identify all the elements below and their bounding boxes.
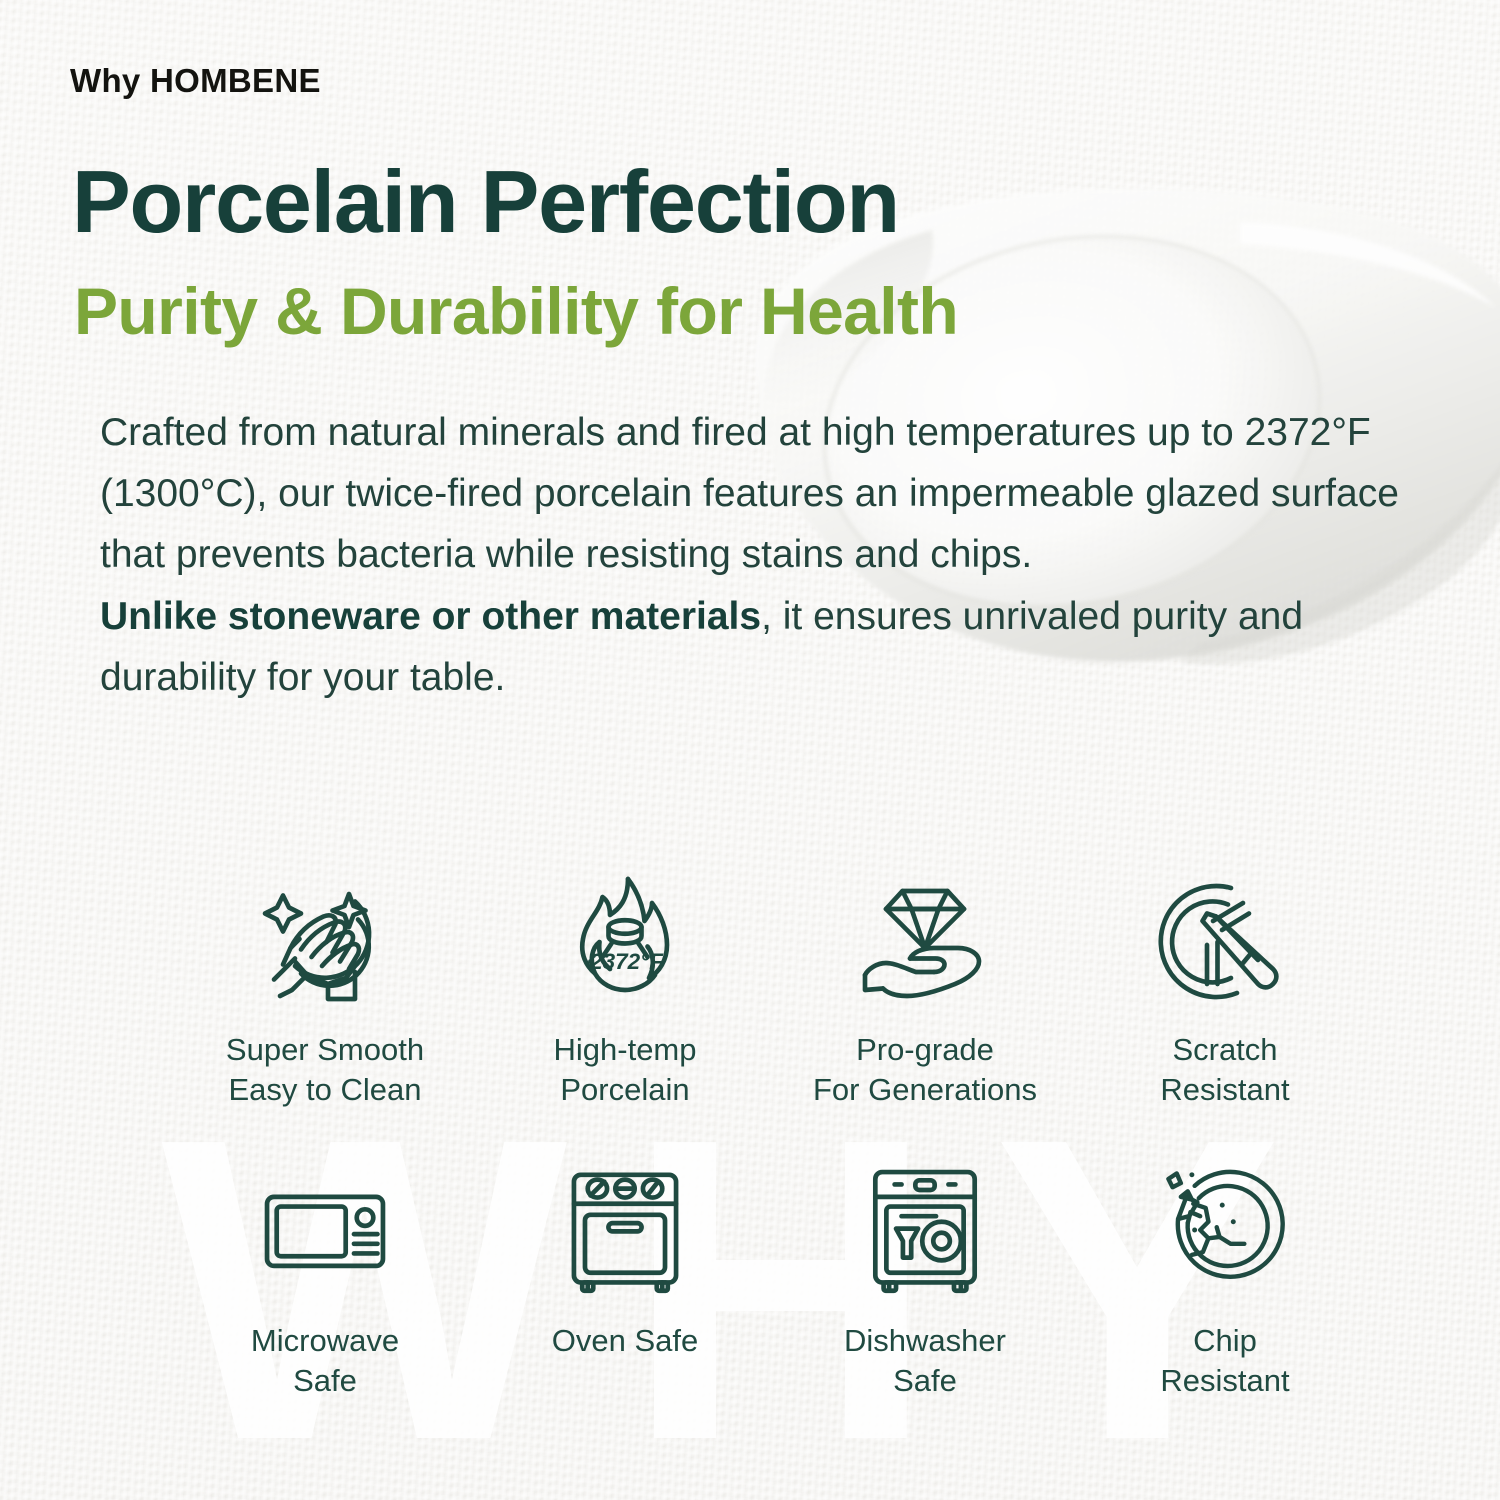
page-subtitle: Purity & Durability for Health [74, 278, 958, 344]
page-eyebrow: Why HOMBENE [70, 62, 321, 100]
dishwasher-icon [856, 1155, 994, 1305]
feature-label: Pro-grade For Generations [813, 1030, 1037, 1109]
feature-label: Chip Resistant [1160, 1321, 1289, 1400]
body-paragraph-1: Crafted from natural minerals and fired … [100, 403, 1430, 585]
feature-label: Super Smooth Easy to Clean [226, 1030, 424, 1109]
feature-item-super-smooth: Super Smooth Easy to Clean [175, 862, 475, 1109]
feature-label: Scratch Resistant [1160, 1030, 1289, 1109]
feature-label: High-temp Porcelain [554, 1030, 697, 1109]
feature-item-pro-grade: Pro-grade For Generations [775, 862, 1075, 1109]
feature-item-high-temp: 2372°F High-temp Porcelain [475, 862, 775, 1109]
chipped-plate-icon [1156, 1155, 1294, 1305]
body-copy: Crafted from natural minerals and fired … [100, 403, 1430, 709]
diamond-in-hand-icon [850, 862, 1000, 1022]
flame-temperature-badge: 2372°F [589, 949, 664, 974]
flame-temperature-icon: 2372°F [550, 862, 700, 1022]
feature-item-oven-safe: Oven Safe [475, 1155, 775, 1400]
sparkle-hand-polish-icon [250, 862, 400, 1022]
plate-knife-scratch-icon [1150, 862, 1300, 1022]
feature-item-scratch-resistant: Scratch Resistant [1075, 862, 1375, 1109]
feature-label: Dishwasher Safe [844, 1321, 1006, 1400]
body-paragraph-2: Unlike stoneware or other materials, it … [100, 587, 1430, 709]
feature-label: Microwave Safe [251, 1321, 399, 1400]
feature-grid: Super Smooth Easy to Clean 2372°F High-t… [175, 862, 1375, 1401]
feature-item-microwave-safe: Microwave Safe [175, 1155, 475, 1400]
body-paragraph-2-bold: Unlike stoneware or other materials [100, 595, 761, 638]
page-title: Porcelain Perfection [72, 158, 899, 246]
microwave-icon [256, 1155, 394, 1305]
feature-item-dishwasher-safe: Dishwasher Safe [775, 1155, 1075, 1400]
oven-icon [556, 1155, 694, 1305]
feature-item-chip-resistant: Chip Resistant [1075, 1155, 1375, 1400]
feature-label: Oven Safe [552, 1321, 698, 1361]
